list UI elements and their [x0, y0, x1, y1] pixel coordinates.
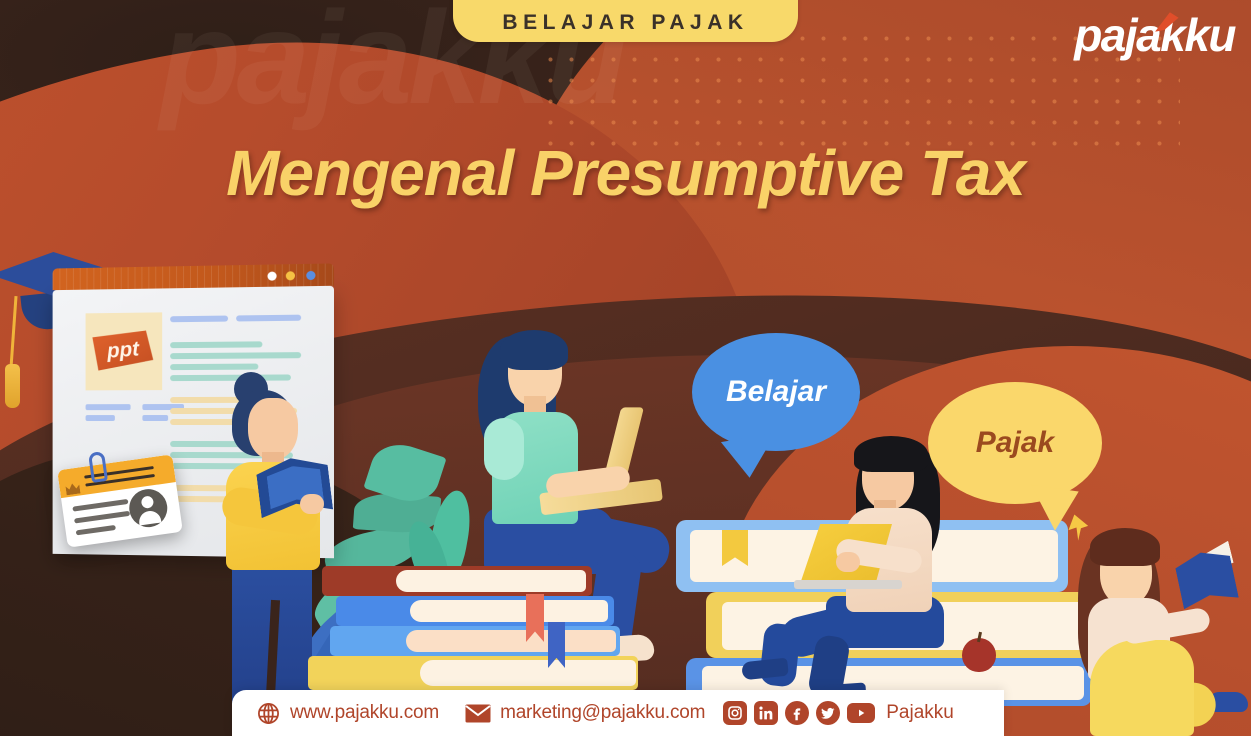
person-left-face — [248, 398, 298, 460]
logo-wordmark: pajakku — [1074, 9, 1235, 61]
reading-girl-legs — [1090, 640, 1194, 736]
caption-bar — [86, 404, 131, 410]
footer-contact-bar: www.pajakku.com marketing@pajakku.com — [232, 690, 1004, 736]
book-pages — [420, 660, 636, 686]
website-item[interactable]: www.pajakku.com — [256, 701, 439, 726]
person-center-hair-top — [500, 330, 568, 370]
person-left-hand — [300, 494, 324, 514]
caption-bar — [86, 415, 115, 421]
book-pages — [406, 630, 616, 652]
email-label: marketing@pajakku.com — [500, 702, 705, 724]
poster-canvas: pajakku BELAJAR PAJAK pajakku Mengenal P… — [0, 0, 1251, 736]
page-title: Mengenal Presumptive Tax — [0, 136, 1251, 210]
speech-bubble-belajar-text: Belajar — [726, 375, 826, 409]
id-card-line — [72, 499, 128, 512]
email-item[interactable]: marketing@pajakku.com — [465, 702, 705, 724]
speech-bubble-pajak-tail — [1025, 485, 1078, 533]
book-pages — [410, 600, 608, 622]
social-links — [723, 701, 875, 725]
website-label: www.pajakku.com — [290, 702, 439, 724]
globe-icon — [256, 701, 281, 726]
laptop-right-base — [794, 580, 902, 589]
badge-label: BELAJAR PAJAK — [502, 11, 748, 35]
ppt-thumbnail: ppt — [86, 312, 163, 390]
speech-bubble-pajak-text: Pajak — [976, 426, 1054, 460]
ppt-badge: ppt — [92, 330, 153, 370]
caption-bar — [142, 415, 168, 421]
id-card — [57, 454, 183, 547]
envelope-icon — [465, 704, 491, 723]
avatar — [127, 487, 170, 530]
brand-label: Pajakku — [886, 702, 954, 724]
id-card-line — [74, 511, 130, 524]
belajar-pajak-badge: BELAJAR PAJAK — [453, 0, 798, 42]
window-titlebar — [53, 263, 334, 290]
id-card-line — [76, 525, 116, 536]
apple-icon — [962, 638, 996, 672]
twitter-icon[interactable] — [816, 701, 840, 725]
reading-girl-hair-top — [1090, 528, 1160, 566]
person-right-hair-front — [854, 436, 928, 472]
speech-bubble-pajak: Pajak — [928, 382, 1102, 504]
instagram-icon[interactable] — [723, 701, 747, 725]
linkedin-icon[interactable] — [754, 701, 778, 725]
cap-tassel — [5, 364, 20, 408]
book-pages — [396, 570, 586, 592]
ppt-label: ppt — [106, 337, 140, 363]
youtube-icon[interactable] — [847, 703, 875, 723]
pajakku-logo: pajakku — [1074, 8, 1235, 62]
person-center-sleeve — [484, 418, 524, 480]
speech-bubble-belajar: Belajar — [692, 333, 860, 451]
person-right-hand — [836, 552, 860, 572]
facebook-icon[interactable] — [785, 701, 809, 725]
